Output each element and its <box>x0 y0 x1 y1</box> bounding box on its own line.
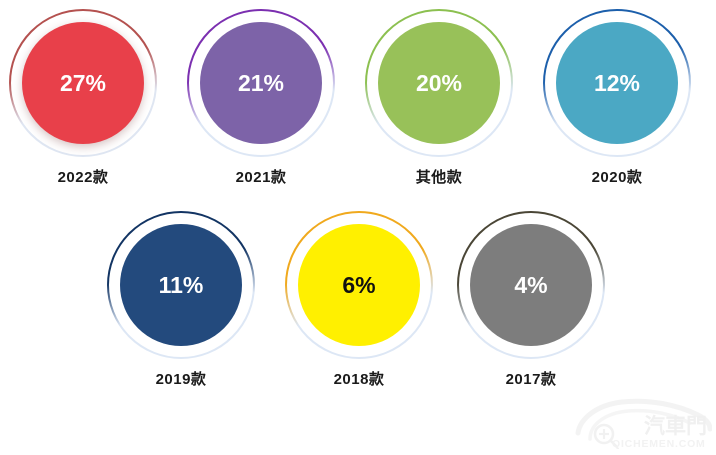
bubble-disc[interactable]: 4% <box>470 224 592 346</box>
bubble-label: 2017款 <box>456 368 606 389</box>
bubble-disc[interactable]: 21% <box>200 22 322 144</box>
bubble-percentage: 4% <box>514 274 547 297</box>
bubble-label: 2018款 <box>284 368 434 389</box>
bubble-percentage: 12% <box>594 72 640 95</box>
bubble-disc[interactable]: 11% <box>120 224 242 346</box>
bubble-label: 2020款 <box>542 166 692 187</box>
bubble-percentage: 11% <box>159 274 204 297</box>
infographic-canvas: 27%2022款 21%2021款 20%其他款 12%2020款 11%201… <box>0 0 716 455</box>
bubble-percentage: 21% <box>238 72 284 95</box>
bubble-4[interactable]: 11%2019款 <box>106 210 256 405</box>
bubble-disc[interactable]: 6% <box>298 224 420 346</box>
bubble-percentage: 6% <box>342 274 375 297</box>
bubble-5[interactable]: 6%2018款 <box>284 210 434 405</box>
bubble-label: 其他款 <box>364 166 514 187</box>
bubble-disc[interactable]: 27% <box>22 22 144 144</box>
bubble-label: 2021款 <box>186 166 336 187</box>
bubble-label: 2019款 <box>106 368 256 389</box>
bubble-percentage: 27% <box>60 72 106 95</box>
bubble-0[interactable]: 27%2022款 <box>8 8 158 203</box>
bubble-disc[interactable]: 20% <box>378 22 500 144</box>
bubble-6[interactable]: 4%2017款 <box>456 210 606 405</box>
watermark-site-text: QICHEMEN.COM <box>612 438 706 450</box>
bubble-1[interactable]: 21%2021款 <box>186 8 336 203</box>
bubble-2[interactable]: 20%其他款 <box>364 8 514 203</box>
bubble-disc[interactable]: 12% <box>556 22 678 144</box>
bubble-percentage: 20% <box>416 72 462 95</box>
watermark-chinese-text: 汽車門 <box>644 414 707 438</box>
bubble-3[interactable]: 12%2020款 <box>542 8 692 203</box>
bubble-label: 2022款 <box>8 166 158 187</box>
